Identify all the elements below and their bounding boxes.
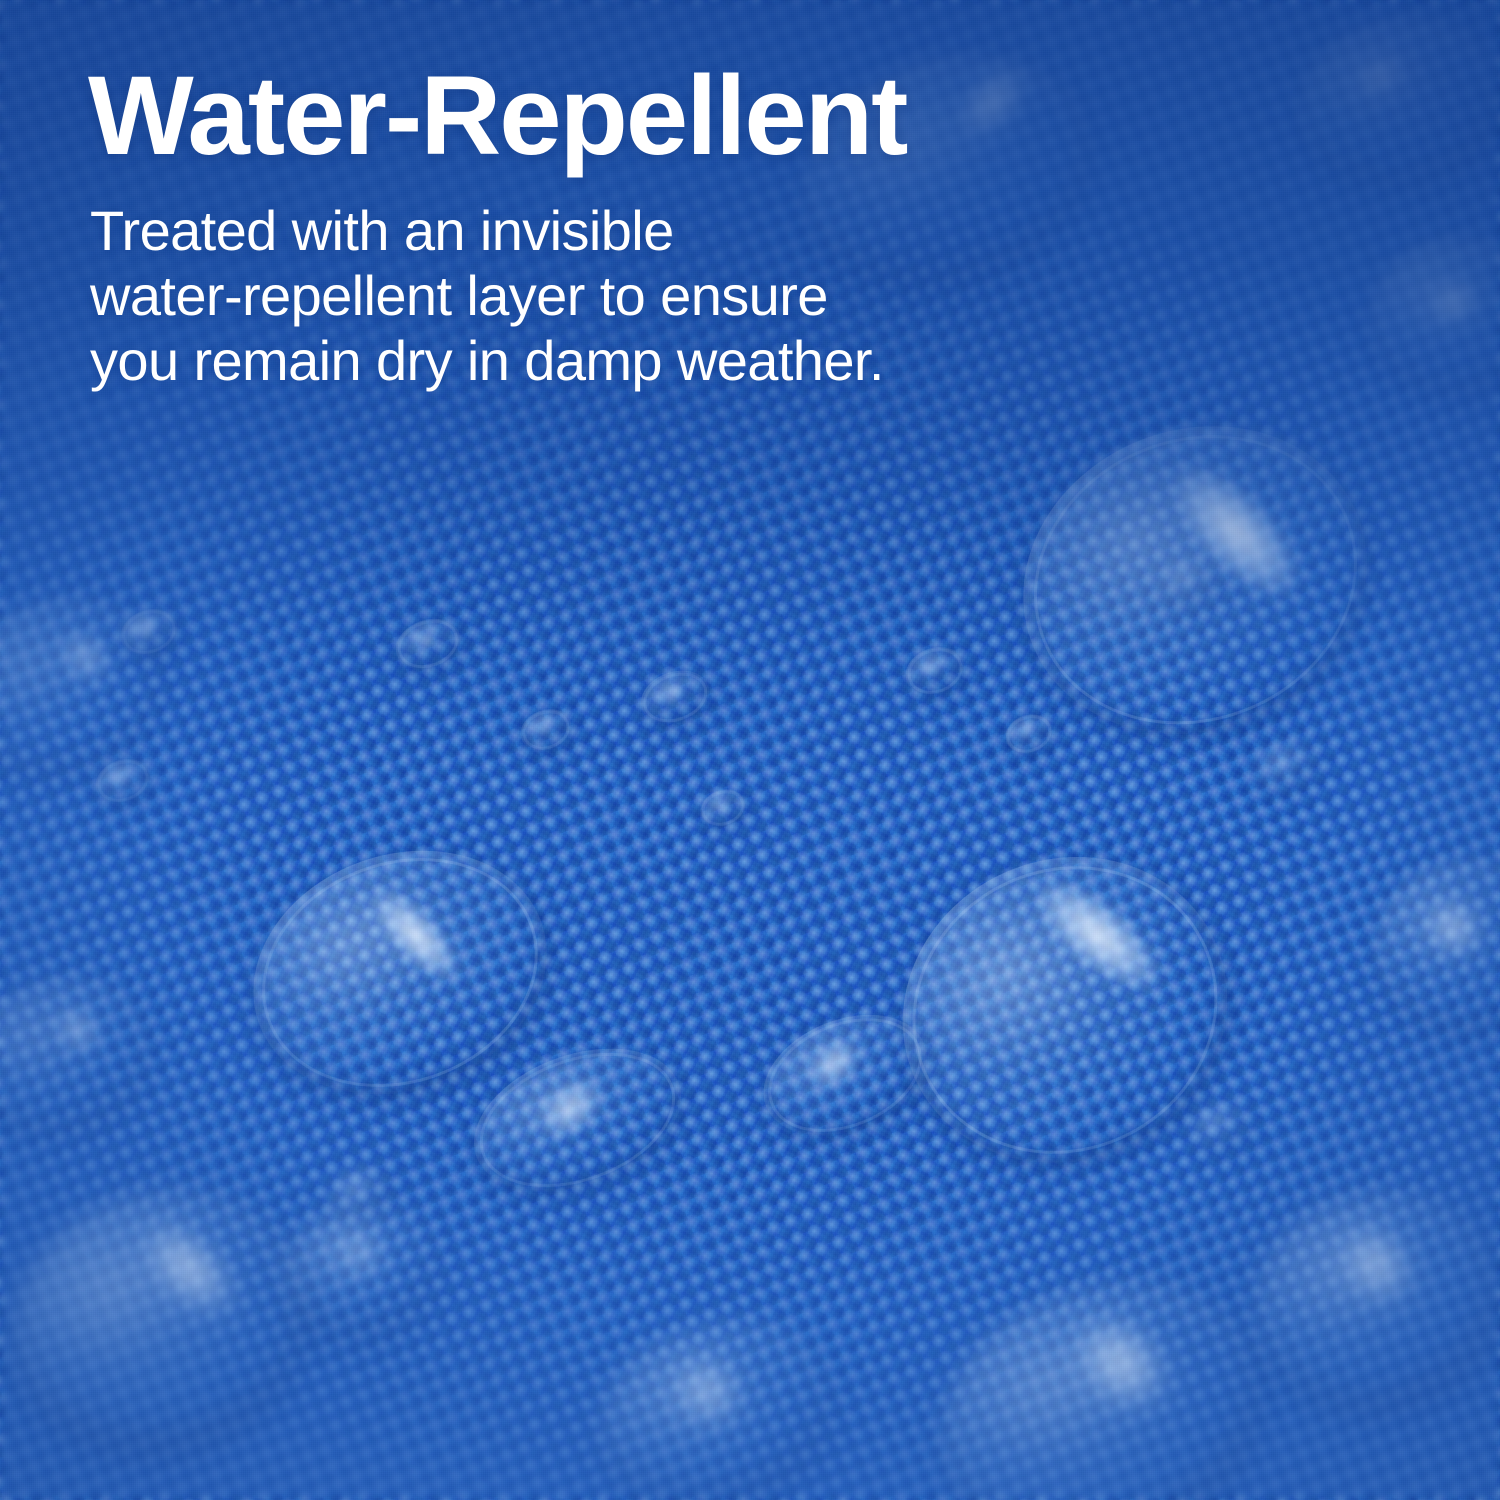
droplet-rim	[0, 962, 162, 1148]
description-line-3: you remain dry in damp weather.	[90, 328, 1068, 393]
description-line-1: Treated with an invisible	[90, 198, 1068, 263]
droplet-tiny-j	[1249, 736, 1323, 800]
droplet-rim	[1251, 738, 1321, 799]
droplet-rim	[990, 388, 1401, 773]
droplet-specular-highlight	[1172, 566, 1198, 591]
droplet-rim	[901, 641, 969, 701]
droplet-specular-highlight	[127, 1205, 259, 1339]
droplet-rim	[1292, 7, 1500, 193]
droplet-tiny-i	[1154, 552, 1219, 610]
droplet-tiny-g	[90, 752, 157, 811]
droplet-rim	[230, 820, 571, 1124]
droplet-mid-low-left	[454, 1022, 700, 1218]
droplet-specular-highlight	[710, 795, 732, 817]
description-text: Treated with an invisible water-repellen…	[90, 198, 1068, 393]
droplet-tiny-k	[324, 1161, 395, 1223]
droplet-specular-highlight	[799, 1029, 871, 1101]
droplet-right-edge-mid	[1353, 836, 1500, 1053]
droplet-rim	[919, 1253, 1280, 1500]
droplet-specular-highlight	[1203, 1111, 1230, 1138]
droplet-bottom-center	[579, 1294, 852, 1500]
description-line-2: water-repellent layer to ensure	[90, 263, 1068, 328]
droplet-lower-left-small	[272, 1189, 449, 1351]
droplet-specular-highlight	[330, 1221, 392, 1286]
droplet-rim	[92, 753, 155, 808]
droplet-specular-highlight	[659, 1343, 759, 1446]
droplet-rim	[0, 578, 176, 792]
droplet-bottom-right-edge	[1231, 1166, 1500, 1434]
droplet-specular-highlight	[1349, 48, 1413, 108]
droplet-specular-highlight	[1016, 720, 1039, 743]
droplet-bottom-right-big	[908, 1243, 1292, 1500]
droplet-top-right	[1286, 1, 1500, 199]
droplet-specular-highlight	[1150, 445, 1335, 632]
droplet-specular-highlight	[1422, 273, 1488, 337]
droplet-specular-highlight	[532, 715, 557, 739]
droplet-left-edge-low	[0, 956, 169, 1154]
droplet-center-right	[851, 803, 1279, 1217]
droplet-rim	[462, 1028, 694, 1212]
droplet-rim	[517, 704, 576, 756]
droplet-specular-highlight	[344, 1175, 372, 1202]
droplet-rim	[864, 815, 1266, 1204]
droplet-tiny-h	[695, 783, 751, 833]
droplet-rim	[1156, 554, 1217, 608]
droplet-rim	[0, 1166, 326, 1474]
droplet-rim	[326, 1163, 393, 1221]
droplet-center-small	[746, 992, 945, 1158]
droplet-tiny-a	[114, 601, 184, 662]
droplet-rim	[116, 603, 181, 661]
droplet-specular-highlight	[1017, 859, 1193, 1021]
droplet-specular-highlight	[1269, 751, 1298, 779]
droplet-tiny-d	[899, 639, 971, 703]
droplet-center-left	[219, 811, 581, 1134]
droplet-specular-highlight	[918, 654, 946, 682]
droplet-specular-highlight	[357, 876, 483, 1004]
droplet-rim	[277, 1194, 443, 1347]
droplet-lower-left-big	[0, 1156, 337, 1483]
droplet-upper-right-large	[977, 375, 1414, 784]
droplet-rim	[587, 1301, 843, 1500]
droplet-specular-highlight	[47, 619, 126, 699]
droplet-specular-highlight	[410, 626, 441, 656]
droplet-specular-highlight	[133, 616, 160, 643]
droplet-left-edge-mid	[0, 571, 183, 799]
droplet-tiny-c	[634, 662, 717, 733]
droplet-specular-highlight	[526, 1065, 617, 1154]
droplet-rim	[1360, 843, 1500, 1047]
droplet-rim	[1002, 709, 1057, 758]
droplet-specular-highlight	[44, 996, 114, 1067]
page-title: Water-Repellent	[88, 60, 1068, 172]
droplet-tiny-f	[1000, 708, 1058, 760]
droplet-specular-highlight	[108, 765, 134, 791]
droplet-rim	[697, 785, 749, 832]
droplet-rim	[1364, 232, 1500, 399]
water-repellent-feature-card: Water-Repellent Treated with an invisibl…	[0, 0, 1500, 1500]
droplet-specular-highlight	[656, 678, 688, 710]
droplet-specular-highlight	[1326, 1213, 1431, 1324]
droplet-rim	[1239, 1174, 1500, 1426]
text-block: Water-Repellent Treated with an invisibl…	[88, 60, 1068, 393]
droplet-rim	[1186, 1098, 1251, 1156]
droplet-specular-highlight	[1056, 1298, 1193, 1436]
droplet-tiny-e	[515, 702, 578, 757]
droplet-tiny-l	[1184, 1096, 1254, 1157]
droplet-rim	[391, 612, 465, 676]
droplet-specular-highlight	[1412, 887, 1496, 974]
droplet-rim	[636, 664, 714, 731]
droplet-tiny-b	[389, 610, 467, 678]
droplet-rim	[752, 997, 939, 1153]
droplet-upper-right-edge	[1358, 226, 1500, 403]
